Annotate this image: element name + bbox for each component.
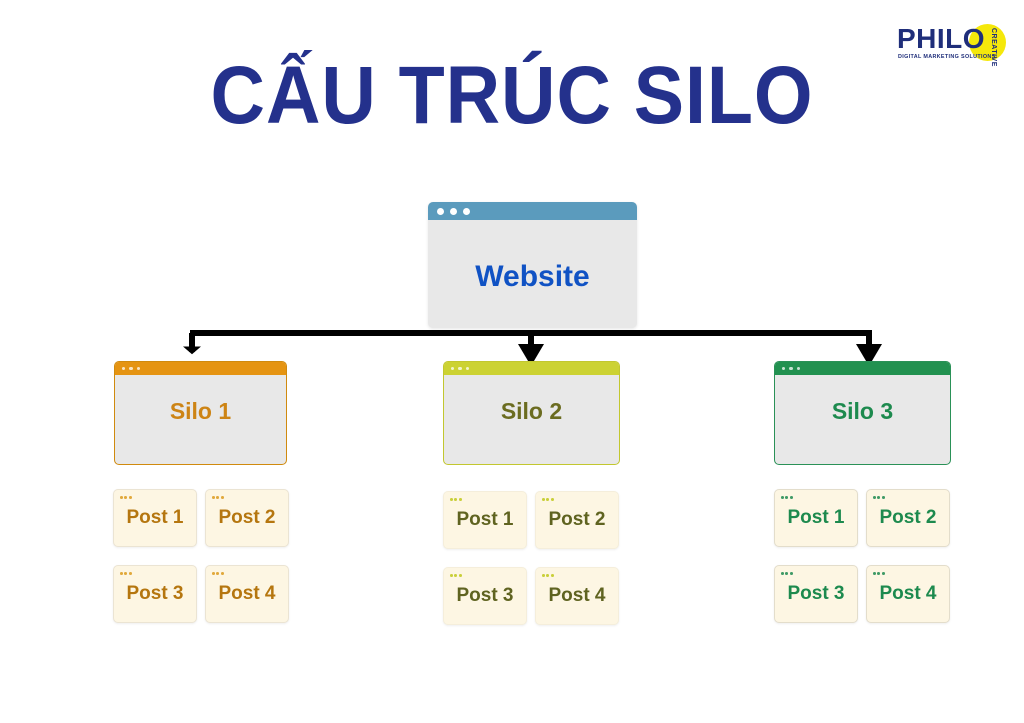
window-dot-icon bbox=[129, 367, 132, 370]
window-dot-icon bbox=[458, 367, 461, 370]
website-label: Website bbox=[428, 260, 637, 294]
window-dots-icon bbox=[542, 574, 554, 577]
post-card[interactable]: Post 4 bbox=[205, 565, 289, 623]
post-card[interactable]: Post 4 bbox=[866, 565, 950, 623]
logo-mark: PHILO CREATIVE DIGITAL MARKETING SOLUTIO… bbox=[897, 24, 1009, 64]
window-dot-icon bbox=[122, 367, 125, 370]
window-dot-icon bbox=[789, 367, 792, 370]
post-card[interactable]: Post 3 bbox=[443, 567, 527, 625]
window-dots-icon bbox=[212, 572, 224, 575]
post-label: Post 3 bbox=[444, 585, 526, 607]
silo-2-label: Silo 2 bbox=[444, 398, 619, 425]
silo-2-titlebar bbox=[444, 362, 619, 375]
post-card[interactable]: Post 1 bbox=[774, 489, 858, 547]
post-label: Post 4 bbox=[536, 585, 618, 607]
post-card[interactable]: Post 3 bbox=[774, 565, 858, 623]
window-dots-icon bbox=[542, 498, 554, 501]
website-card[interactable]: Website bbox=[428, 202, 637, 328]
window-dot-icon bbox=[466, 367, 469, 370]
page-title: CẤU TRÚC SILO bbox=[41, 48, 983, 144]
post-card[interactable]: Post 4 bbox=[535, 567, 619, 625]
window-dots-icon bbox=[450, 498, 462, 501]
post-card[interactable]: Post 2 bbox=[535, 491, 619, 549]
silo-card-2[interactable]: Silo 2 bbox=[443, 361, 620, 465]
window-dots-icon bbox=[873, 496, 885, 499]
logo-wordmark: PHILO bbox=[897, 25, 985, 53]
logo-badge-text: CREATIVE bbox=[990, 28, 997, 67]
window-dot-icon bbox=[782, 367, 785, 370]
post-label: Post 4 bbox=[867, 583, 949, 605]
window-dots-icon bbox=[212, 496, 224, 499]
post-label: Post 2 bbox=[536, 509, 618, 531]
window-dots-icon bbox=[120, 496, 132, 499]
window-dot-icon bbox=[451, 367, 454, 370]
post-label: Post 2 bbox=[206, 507, 288, 529]
post-card[interactable]: Post 1 bbox=[113, 489, 197, 547]
silo-3-label: Silo 3 bbox=[775, 398, 950, 425]
silo-1-titlebar bbox=[115, 362, 286, 375]
post-label: Post 3 bbox=[114, 583, 196, 605]
window-dot-icon bbox=[450, 208, 457, 215]
silo-1-label: Silo 1 bbox=[115, 398, 286, 425]
post-label: Post 1 bbox=[114, 507, 196, 529]
window-dots-icon bbox=[120, 572, 132, 575]
silo-card-1[interactable]: Silo 1 bbox=[114, 361, 287, 465]
window-dots-icon bbox=[450, 574, 462, 577]
silo-3-titlebar bbox=[775, 362, 950, 375]
window-dot-icon bbox=[137, 367, 140, 370]
window-dots-icon bbox=[781, 496, 793, 499]
window-dot-icon bbox=[797, 367, 800, 370]
post-label: Post 4 bbox=[206, 583, 288, 605]
post-label: Post 3 bbox=[775, 583, 857, 605]
post-card[interactable]: Post 3 bbox=[113, 565, 197, 623]
logo-tagline: DIGITAL MARKETING SOLUTIONS bbox=[898, 54, 996, 60]
philo-creative-logo: PHILO CREATIVE DIGITAL MARKETING SOLUTIO… bbox=[897, 24, 1009, 64]
post-card[interactable]: Post 2 bbox=[205, 489, 289, 547]
post-label: Post 1 bbox=[444, 509, 526, 531]
post-card[interactable]: Post 1 bbox=[443, 491, 527, 549]
window-dots-icon bbox=[781, 572, 793, 575]
silo-card-3[interactable]: Silo 3 bbox=[774, 361, 951, 465]
window-dots-icon bbox=[873, 572, 885, 575]
post-label: Post 1 bbox=[775, 507, 857, 529]
website-titlebar bbox=[428, 202, 637, 220]
post-card[interactable]: Post 2 bbox=[866, 489, 950, 547]
post-label: Post 2 bbox=[867, 507, 949, 529]
window-dot-icon bbox=[463, 208, 470, 215]
window-dot-icon bbox=[437, 208, 444, 215]
